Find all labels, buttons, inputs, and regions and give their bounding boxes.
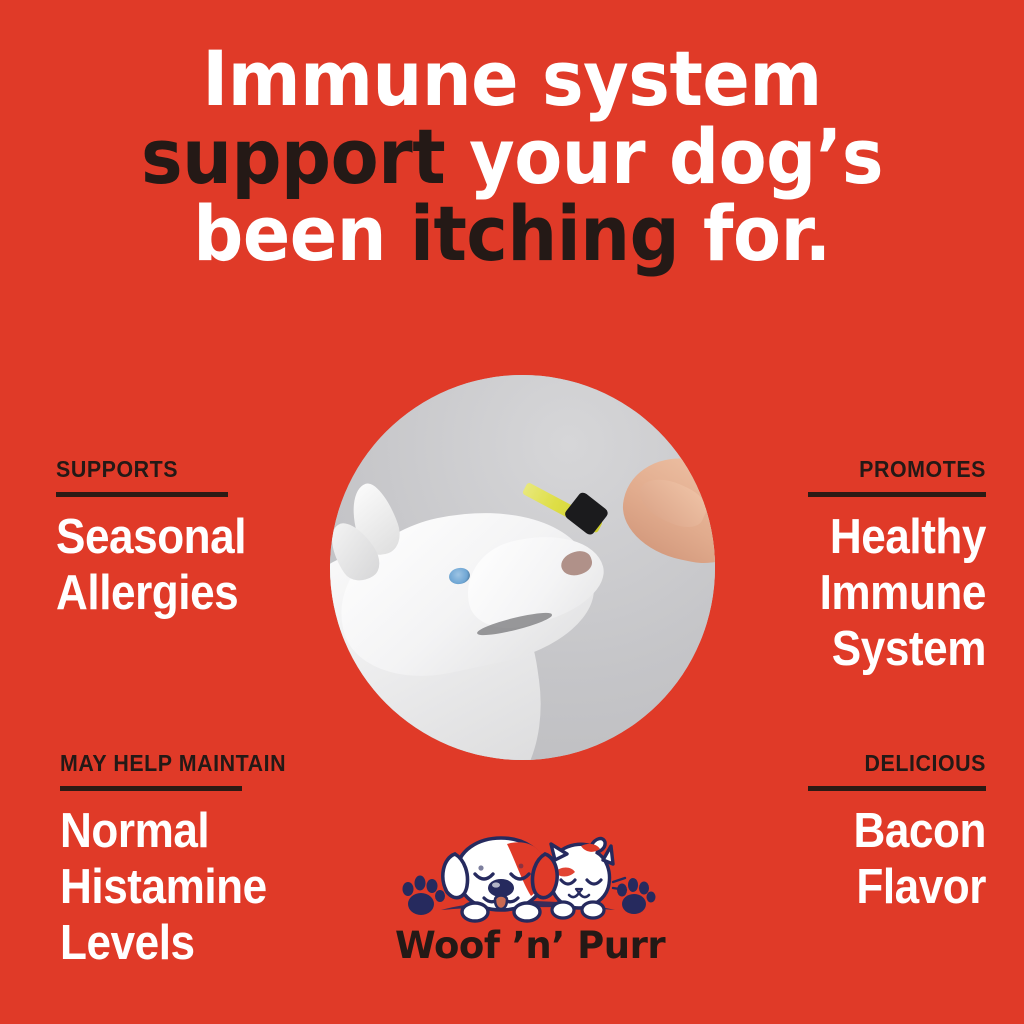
- benefit-title-supports: Seasonal Allergies: [56, 510, 326, 622]
- benefit-title-line: Healthy: [716, 510, 986, 566]
- headline-word-support: support: [141, 112, 445, 201]
- benefit-divider-histamine: [60, 786, 242, 791]
- benefit-kicker-bacon: DELICIOUS: [707, 750, 986, 777]
- headline-word-immune-system: Immune system: [202, 34, 822, 123]
- headline-line-3: been itching for.: [41, 197, 983, 271]
- paw-print-right-icon: [617, 878, 656, 914]
- headline-word-your-dogs: your dog’s: [469, 112, 883, 201]
- benefit-block-bacon: DELICIOUS Bacon Flavor: [686, 750, 986, 916]
- benefit-title-line: System: [716, 622, 986, 678]
- benefit-title-promotes: Healthy Immune System: [716, 510, 986, 678]
- headline-line-2: support your dog’s: [41, 120, 983, 194]
- brand-name: Woof ’n’ Purr: [395, 924, 660, 967]
- benefit-title-line: Allergies: [56, 566, 326, 622]
- benefit-block-histamine: MAY HELP MAINTAIN Normal Histamine Level…: [60, 750, 390, 972]
- product-photo-circle: [330, 375, 715, 760]
- benefit-title-line: Flavor: [716, 860, 986, 916]
- benefit-title-bacon: Bacon Flavor: [716, 804, 986, 916]
- benefit-title-histamine: Normal Histamine Levels: [60, 804, 357, 972]
- paw-print-left-icon: [403, 876, 446, 916]
- benefit-title-line: Seasonal: [56, 510, 326, 566]
- headline-word-been: been: [193, 189, 386, 278]
- benefit-divider-promotes: [808, 492, 986, 497]
- benefit-block-promotes: PROMOTES Healthy Immune System: [686, 456, 986, 678]
- benefit-block-supports: SUPPORTS Seasonal Allergies: [56, 456, 356, 622]
- dog-and-cat-icon: [395, 832, 660, 932]
- benefit-divider-bacon: [808, 786, 986, 791]
- benefit-title-line: Levels: [60, 916, 357, 972]
- benefit-kicker-histamine: MAY HELP MAINTAIN: [60, 750, 367, 777]
- benefit-kicker-promotes: PROMOTES: [707, 456, 986, 483]
- headline-line-1: Immune system: [41, 42, 983, 116]
- headline: Immune system support your dog’s been it…: [0, 42, 1024, 275]
- headline-word-for: for.: [703, 189, 831, 278]
- benefit-title-line: Histamine: [60, 860, 357, 916]
- headline-word-itching: itching: [410, 189, 679, 278]
- poster-canvas: Immune system support your dog’s been it…: [0, 0, 1024, 1024]
- benefit-title-line: Normal: [60, 804, 357, 860]
- benefit-divider-supports: [56, 492, 228, 497]
- benefit-title-line: Immune: [716, 566, 986, 622]
- benefit-kicker-supports: SUPPORTS: [56, 456, 335, 483]
- brand-logo[interactable]: Woof ’n’ Purr: [395, 832, 660, 977]
- benefit-title-line: Bacon: [716, 804, 986, 860]
